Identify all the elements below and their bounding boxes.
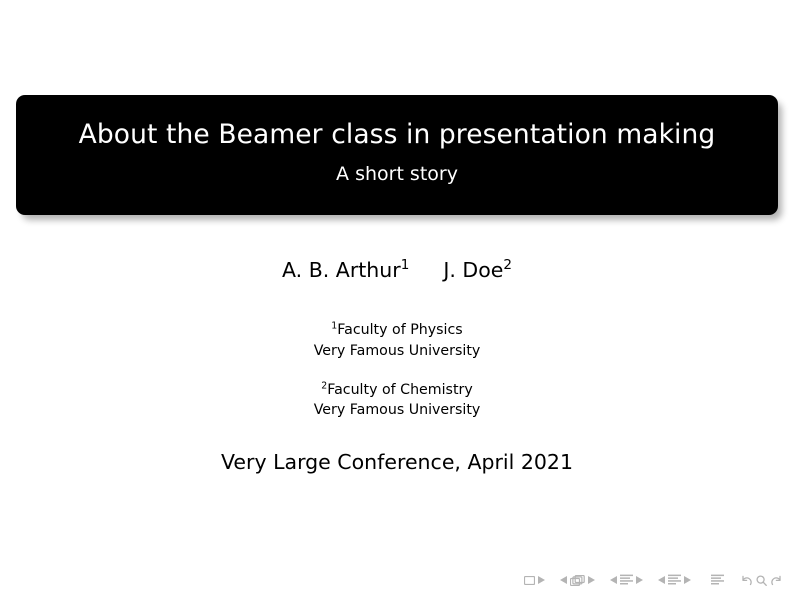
document-icon[interactable]: [711, 574, 724, 586]
author-entry: J. Doe2: [443, 258, 512, 282]
author-affiliation-marker: 1: [401, 257, 410, 273]
affiliation-list: 1Faculty of Physics Very Famous Universi…: [0, 320, 794, 421]
author-list: A. B. Arthur1J. Doe2: [0, 258, 794, 283]
search-icon[interactable]: [756, 575, 767, 586]
affiliation-institution: Very Famous University: [0, 400, 794, 421]
author-affiliation-marker: 2: [503, 257, 512, 273]
section-icon[interactable]: [668, 574, 681, 586]
presentation-title: About the Beamer class in presentation m…: [79, 120, 716, 150]
triangle-left-icon[interactable]: [560, 576, 567, 584]
triangle-right-icon[interactable]: [636, 576, 643, 584]
affiliation-department: Faculty of Chemistry: [327, 382, 473, 398]
triangle-left-icon[interactable]: [610, 576, 617, 584]
back-arrow-icon[interactable]: [741, 575, 752, 586]
presentation-subtitle: A short story: [336, 163, 458, 186]
author-name: A. B. Arthur: [282, 258, 401, 282]
author-name: J. Doe: [443, 258, 503, 282]
author-entry: A. B. Arthur1: [282, 258, 409, 282]
affiliation-institution: Very Famous University: [0, 341, 794, 362]
affiliation-entry: 2Faculty of Chemistry Very Famous Univer…: [0, 380, 794, 422]
triangle-right-icon[interactable]: [588, 576, 595, 584]
slide-icon[interactable]: [524, 576, 535, 585]
title-block: About the Beamer class in presentation m…: [16, 95, 778, 215]
affiliation-department: Faculty of Physics: [337, 322, 462, 338]
affiliation-entry: 1Faculty of Physics Very Famous Universi…: [0, 320, 794, 362]
beamer-navigation-bar[interactable]: [524, 571, 782, 589]
triangle-left-icon[interactable]: [658, 576, 665, 584]
title-slide: About the Beamer class in presentation m…: [0, 0, 794, 596]
subsection-icon[interactable]: [620, 574, 633, 586]
conference-venue-date: Very Large Conference, April 2021: [0, 450, 794, 475]
triangle-right-icon[interactable]: [684, 576, 691, 584]
affiliation-department-line: 1Faculty of Physics: [0, 320, 794, 341]
affiliation-department-line: 2Faculty of Chemistry: [0, 380, 794, 401]
triangle-right-icon[interactable]: [538, 576, 545, 584]
frames-icon[interactable]: [570, 575, 585, 586]
forward-arrow-icon[interactable]: [771, 575, 782, 586]
